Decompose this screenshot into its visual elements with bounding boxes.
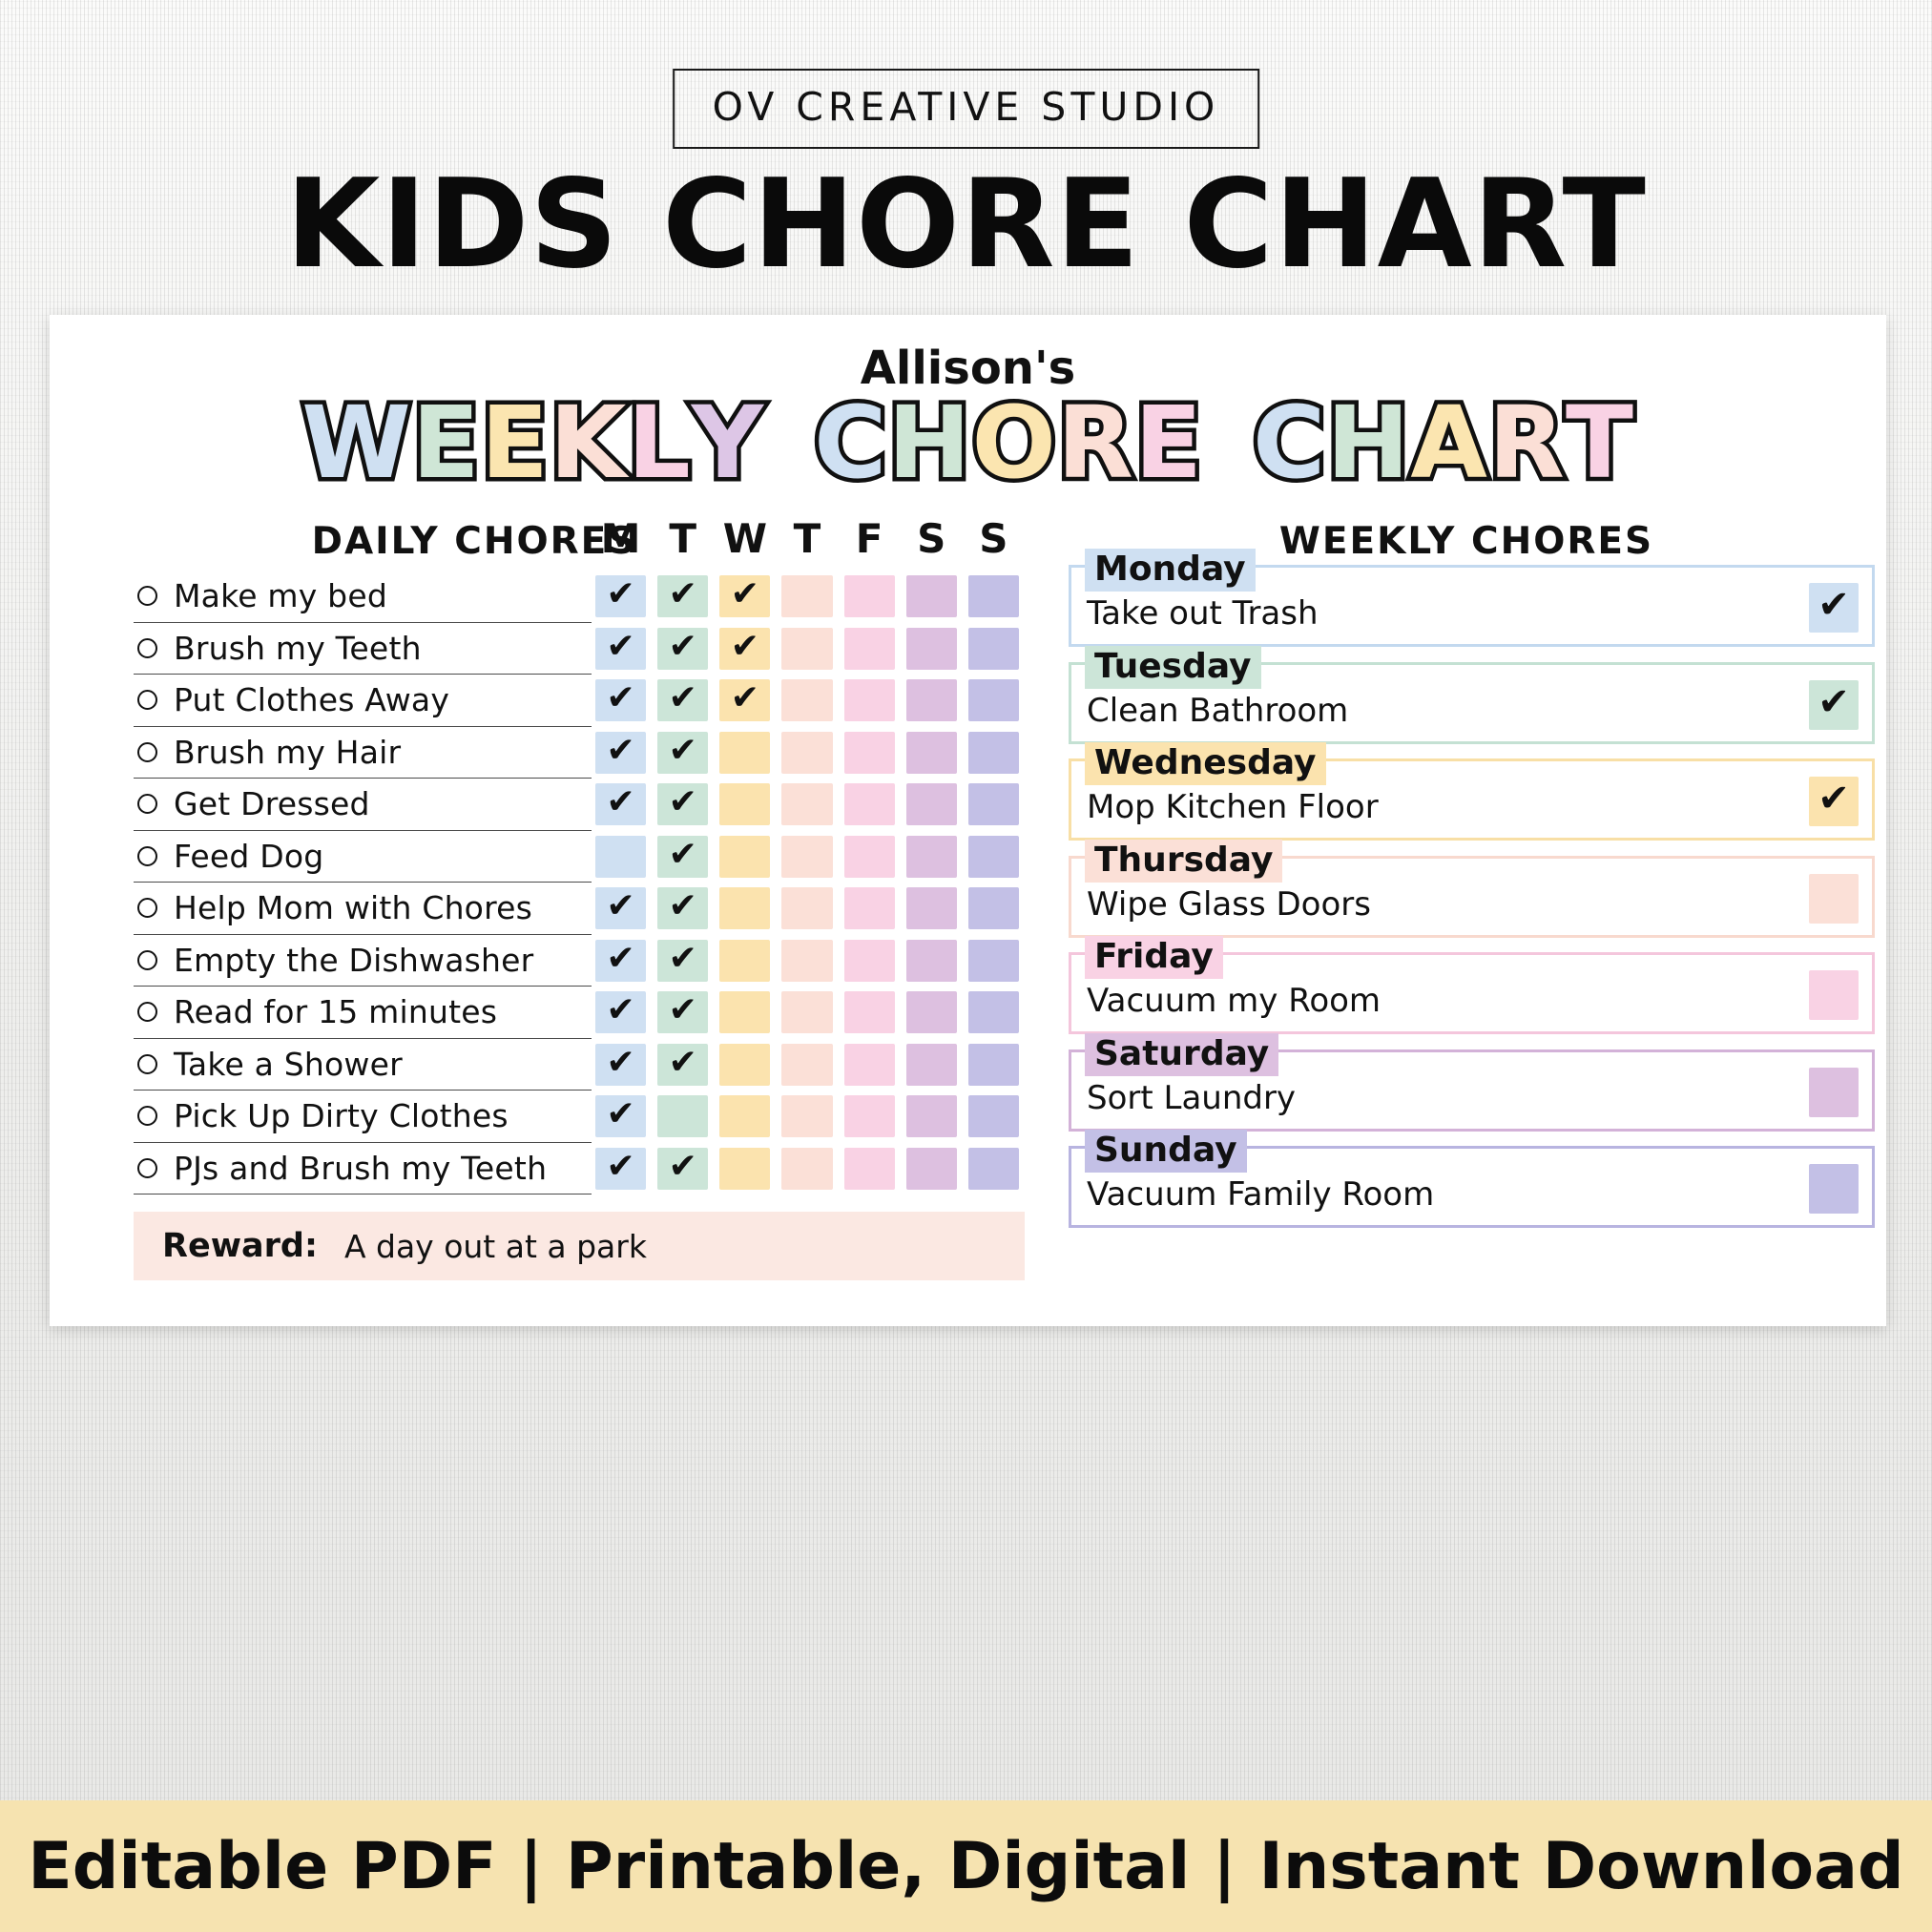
grid-cell[interactable]: ✔ [657, 1148, 708, 1190]
grid-cell[interactable] [906, 1148, 957, 1190]
circle-checkbox-icon[interactable] [137, 1158, 157, 1178]
check-icon: ✔ [731, 577, 759, 612]
weekly-day-label: Sunday [1085, 1130, 1247, 1173]
reward-label: Reward: [162, 1227, 318, 1265]
grid-cell[interactable] [906, 1095, 957, 1137]
grid-cell[interactable] [968, 575, 1019, 617]
grid-cell[interactable] [906, 887, 957, 929]
weekly-checkbox[interactable]: ✔ [1809, 583, 1859, 633]
chore-label: Empty the Dishwasher [174, 942, 533, 979]
weekly-checkbox[interactable] [1809, 874, 1859, 924]
grid-cell[interactable] [844, 732, 895, 774]
grid-cell[interactable] [781, 679, 832, 721]
grid-cell[interactable] [968, 887, 1019, 929]
grid-cell[interactable] [968, 1148, 1019, 1190]
chore-label: Get Dressed [174, 785, 370, 822]
grid-cell[interactable] [968, 732, 1019, 774]
chore-row: Pick Up Dirty Clothes [134, 1091, 592, 1143]
bubble-letter: E [412, 389, 481, 496]
grid-cell[interactable]: ✔ [719, 628, 770, 670]
grid-cell[interactable] [968, 991, 1019, 1033]
weekly-day-label: Monday [1085, 549, 1256, 592]
chore-label: Help Mom with Chores [174, 889, 532, 926]
grid-cell[interactable]: ✔ [657, 628, 708, 670]
check-icon: ✔ [606, 942, 634, 976]
brand-logo-box: OV CREATIVE STUDIO [673, 69, 1260, 149]
check-icon: ✔ [669, 681, 697, 716]
chore-row: Get Dressed [134, 779, 592, 831]
grid-cell[interactable] [906, 732, 957, 774]
weekly-chores-list: MondayTake out Trash✔TuesdayClean Bathro… [1069, 565, 1875, 1243]
grid-row: ✔✔ [590, 779, 1025, 831]
grid-cell[interactable] [719, 783, 770, 825]
grid-cell[interactable]: ✔ [657, 940, 708, 982]
bottom-banner-text: Editable PDF | Printable, Digital | Inst… [28, 1829, 1903, 1904]
grid-cell[interactable] [906, 940, 957, 982]
check-icon: ✔ [1818, 586, 1850, 624]
weekly-checkbox[interactable] [1809, 970, 1859, 1020]
chore-label: Feed Dog [174, 838, 323, 875]
check-icon: ✔ [669, 942, 697, 976]
bubble-letter: H [887, 389, 971, 496]
grid-cell[interactable]: ✔ [719, 679, 770, 721]
reward-bar: Reward: A day out at a park [134, 1212, 1025, 1280]
grid-cell[interactable]: ✔ [595, 628, 646, 670]
grid-row: ✔✔ [590, 987, 1025, 1039]
grid-cell[interactable]: ✔ [657, 679, 708, 721]
check-icon: ✔ [606, 1097, 634, 1132]
bubble-word-weekly: WEEKLY [301, 389, 764, 496]
grid-row: ✔✔ [590, 1039, 1025, 1091]
grid-cell[interactable]: ✔ [719, 575, 770, 617]
weekly-task-text[interactable]: Vacuum my Room [1087, 982, 1381, 1026]
weekly-day-label: Thursday [1085, 840, 1282, 883]
chore-row: Feed Dog [134, 831, 592, 883]
circle-checkbox-icon[interactable] [137, 586, 157, 606]
grid-row: ✔ [590, 1091, 1025, 1143]
weekly-task-text[interactable]: Vacuum Family Room [1087, 1175, 1434, 1219]
bubble-word-chore: CHORE [814, 389, 1203, 496]
grid-cell[interactable] [844, 1148, 895, 1190]
reward-value[interactable]: A day out at a park [344, 1228, 647, 1265]
chore-label: Brush my Teeth [174, 630, 422, 667]
check-icon: ✔ [669, 577, 697, 612]
grid-cell[interactable] [719, 887, 770, 929]
grid-cell[interactable] [781, 1044, 832, 1086]
brand-logo-text: OV CREATIVE STUDIO [713, 84, 1220, 130]
check-icon: ✔ [606, 993, 634, 1028]
grid-cell[interactable] [657, 1095, 708, 1137]
grid-cell[interactable] [968, 679, 1019, 721]
grid-cell[interactable]: ✔ [657, 887, 708, 929]
grid-cell[interactable] [906, 783, 957, 825]
grid-cell[interactable] [844, 887, 895, 929]
grid-cell[interactable]: ✔ [595, 1148, 646, 1190]
chore-row: Empty the Dishwasher [134, 935, 592, 987]
grid-cell[interactable] [781, 887, 832, 929]
grid-cell[interactable] [719, 991, 770, 1033]
grid-row: ✔✔ [590, 1143, 1025, 1195]
grid-cell[interactable]: ✔ [595, 1044, 646, 1086]
grid-cell[interactable] [844, 1044, 895, 1086]
grid-cell[interactable]: ✔ [595, 679, 646, 721]
grid-cell[interactable] [719, 732, 770, 774]
grid-cell[interactable]: ✔ [657, 1044, 708, 1086]
weekly-task-text[interactable]: Clean Bathroom [1087, 692, 1348, 736]
check-icon: ✔ [669, 1150, 697, 1184]
page-title: KIDS CHORE CHART [0, 164, 1932, 286]
grid-cell[interactable] [781, 991, 832, 1033]
chore-label: Put Clothes Away [174, 681, 449, 718]
grid-cell[interactable] [781, 732, 832, 774]
grid-cell[interactable] [719, 1044, 770, 1086]
grid-cell[interactable] [719, 1148, 770, 1190]
grid-cell[interactable] [844, 783, 895, 825]
grid-cell[interactable] [968, 1044, 1019, 1086]
grid-cell[interactable] [844, 1095, 895, 1137]
weekly-day-label: Tuesday [1085, 646, 1261, 689]
grid-row: ✔✔✔ [590, 623, 1025, 675]
bubble-letter: E [1134, 389, 1203, 496]
circle-checkbox-icon[interactable] [137, 846, 157, 866]
circle-checkbox-icon[interactable] [137, 742, 157, 762]
check-icon: ✔ [1818, 683, 1850, 721]
check-icon: ✔ [606, 577, 634, 612]
check-icon: ✔ [606, 889, 634, 924]
weekly-task-text[interactable]: Sort Laundry [1087, 1079, 1296, 1123]
circle-checkbox-icon[interactable] [137, 1002, 157, 1022]
weekly-chore-card-friday: FridayVacuum my Room [1069, 952, 1875, 1034]
grid-cell[interactable] [968, 1095, 1019, 1137]
bottom-banner: Editable PDF | Printable, Digital | Inst… [0, 1800, 1932, 1932]
bubble-letter: L [627, 389, 691, 496]
bubble-letter: Y [692, 389, 764, 496]
chore-label: Read for 15 minutes [174, 993, 497, 1030]
check-icon: ✔ [731, 630, 759, 664]
grid-cell[interactable]: ✔ [595, 991, 646, 1033]
check-icon: ✔ [606, 734, 634, 768]
weekly-checkbox[interactable] [1809, 1164, 1859, 1214]
circle-checkbox-icon[interactable] [137, 794, 157, 814]
chore-label: PJs and Brush my Teeth [174, 1150, 547, 1187]
grid-cell[interactable] [906, 1044, 957, 1086]
grid-cell[interactable] [781, 836, 832, 878]
chore-row: Put Clothes Away [134, 675, 592, 727]
check-icon: ✔ [606, 681, 634, 716]
grid-cell[interactable] [844, 679, 895, 721]
check-icon: ✔ [669, 838, 697, 872]
chore-row: Brush my Teeth [134, 623, 592, 675]
weekly-chore-card-wednesday: WednesdayMop Kitchen Floor✔ [1069, 758, 1875, 841]
grid-cell[interactable] [968, 836, 1019, 878]
bubble-letter: A [1410, 389, 1488, 496]
grid-cell[interactable] [781, 940, 832, 982]
bubble-letter: R [1057, 389, 1134, 496]
grid-cell[interactable] [719, 940, 770, 982]
weekly-day-label: Saturday [1085, 1033, 1278, 1076]
check-icon: ✔ [669, 785, 697, 820]
chore-row: Make my bed [134, 571, 592, 623]
weekly-day-label: Friday [1085, 936, 1223, 979]
chore-row: Help Mom with Chores [134, 883, 592, 935]
grid-cell[interactable] [781, 783, 832, 825]
bubble-letter: R [1488, 389, 1566, 496]
weekly-chore-card-sunday: SundayVacuum Family Room [1069, 1146, 1875, 1228]
check-icon: ✔ [669, 1046, 697, 1080]
grid-cell[interactable] [906, 628, 957, 670]
check-icon: ✔ [606, 1150, 634, 1184]
grid-cell[interactable] [968, 783, 1019, 825]
circle-checkbox-icon[interactable] [137, 1054, 157, 1074]
circle-checkbox-icon[interactable] [137, 1106, 157, 1126]
grid-cell[interactable] [844, 628, 895, 670]
check-icon: ✔ [669, 889, 697, 924]
chore-row: Read for 15 minutes [134, 987, 592, 1039]
weekly-task-text[interactable]: Wipe Glass Doors [1087, 885, 1371, 929]
bubble-letter: E [481, 389, 550, 496]
grid-cell[interactable] [781, 1095, 832, 1137]
weekly-task-text[interactable]: Take out Trash [1087, 594, 1319, 638]
check-icon: ✔ [669, 630, 697, 664]
grid-cell[interactable] [719, 836, 770, 878]
grid-cell[interactable]: ✔ [595, 783, 646, 825]
check-icon: ✔ [1818, 779, 1850, 818]
day-letter-3: T [776, 515, 838, 562]
chore-row: Brush my Hair [134, 727, 592, 779]
grid-row: ✔✔ [590, 727, 1025, 779]
chore-label: Make my bed [174, 577, 387, 614]
grid-cell[interactable]: ✔ [657, 575, 708, 617]
circle-checkbox-icon[interactable] [137, 690, 157, 710]
day-letter-header-row: MTWTFSS [590, 515, 1025, 562]
weekly-task-text[interactable]: Mop Kitchen Floor [1087, 788, 1379, 832]
check-icon: ✔ [606, 785, 634, 820]
grid-cell[interactable]: ✔ [595, 732, 646, 774]
chore-row: PJs and Brush my Teeth [134, 1143, 592, 1195]
grid-cell[interactable]: ✔ [595, 1095, 646, 1137]
day-letter-6: S [963, 515, 1025, 562]
weekly-chore-card-saturday: SaturdaySort Laundry [1069, 1049, 1875, 1132]
check-icon: ✔ [669, 993, 697, 1028]
bubble-letter: K [550, 389, 628, 496]
grid-cell[interactable] [906, 991, 957, 1033]
grid-cell[interactable]: ✔ [657, 991, 708, 1033]
grid-cell[interactable] [844, 836, 895, 878]
weekly-checkbox[interactable] [1809, 1068, 1859, 1117]
grid-cell[interactable] [781, 1148, 832, 1190]
circle-checkbox-icon[interactable] [137, 950, 157, 970]
grid-cell[interactable] [844, 940, 895, 982]
grid-cell[interactable]: ✔ [657, 783, 708, 825]
circle-checkbox-icon[interactable] [137, 898, 157, 918]
grid-cell[interactable] [906, 836, 957, 878]
chore-label: Pick Up Dirty Clothes [174, 1097, 509, 1134]
grid-row: ✔✔ [590, 883, 1025, 935]
grid-cell[interactable] [595, 836, 646, 878]
weekly-checkbox[interactable]: ✔ [1809, 777, 1859, 826]
grid-cell[interactable]: ✔ [595, 575, 646, 617]
bubble-title: WEEKLYCHORECHART [50, 389, 1886, 496]
day-letter-4: F [839, 515, 901, 562]
weekly-day-label: Wednesday [1085, 742, 1326, 785]
grid-cell[interactable] [844, 575, 895, 617]
bubble-word-chart: CHART [1253, 389, 1634, 496]
check-icon: ✔ [669, 734, 697, 768]
weekly-checkbox[interactable]: ✔ [1809, 680, 1859, 730]
daily-chores-list: Make my bedBrush my TeethPut Clothes Awa… [134, 571, 592, 1195]
grid-cell[interactable] [844, 991, 895, 1033]
grid-cell[interactable]: ✔ [595, 940, 646, 982]
day-letter-0: M [590, 515, 652, 562]
chore-label: Brush my Hair [174, 734, 401, 771]
grid-cell[interactable]: ✔ [657, 732, 708, 774]
grid-cell[interactable] [968, 628, 1019, 670]
daily-checkbox-grid: ✔✔✔✔✔✔✔✔✔✔✔✔✔✔✔✔✔✔✔✔✔✔✔✔✔ [590, 571, 1025, 1195]
bubble-letter: C [1253, 389, 1326, 496]
grid-row: ✔✔ [590, 935, 1025, 987]
day-letter-1: T [652, 515, 714, 562]
check-icon: ✔ [606, 1046, 634, 1080]
weekly-chore-card-tuesday: TuesdayClean Bathroom✔ [1069, 662, 1875, 744]
check-icon: ✔ [731, 681, 759, 716]
bubble-letter: O [971, 389, 1056, 496]
chore-row: Take a Shower [134, 1039, 592, 1091]
grid-cell[interactable]: ✔ [595, 887, 646, 929]
weekly-chore-card-thursday: ThursdayWipe Glass Doors [1069, 856, 1875, 938]
grid-row: ✔ [590, 831, 1025, 883]
grid-cell[interactable] [781, 628, 832, 670]
day-letter-5: S [901, 515, 963, 562]
bubble-letter: C [814, 389, 887, 496]
bubble-letter: T [1566, 389, 1634, 496]
chore-chart-card: Allison's WEEKLYCHORECHART DAILY CHORES … [50, 315, 1886, 1326]
grid-cell[interactable]: ✔ [657, 836, 708, 878]
grid-row: ✔✔✔ [590, 571, 1025, 623]
grid-cell[interactable] [906, 679, 957, 721]
grid-cell[interactable] [968, 940, 1019, 982]
grid-cell[interactable] [719, 1095, 770, 1137]
grid-row: ✔✔✔ [590, 675, 1025, 727]
weekly-chore-card-monday: MondayTake out Trash✔ [1069, 565, 1875, 647]
grid-cell[interactable] [906, 575, 957, 617]
circle-checkbox-icon[interactable] [137, 638, 157, 658]
bubble-letter: H [1326, 389, 1410, 496]
chore-label: Take a Shower [174, 1046, 403, 1083]
day-letter-2: W [714, 515, 776, 562]
bubble-letter: W [301, 389, 412, 496]
grid-cell[interactable] [781, 575, 832, 617]
check-icon: ✔ [606, 630, 634, 664]
